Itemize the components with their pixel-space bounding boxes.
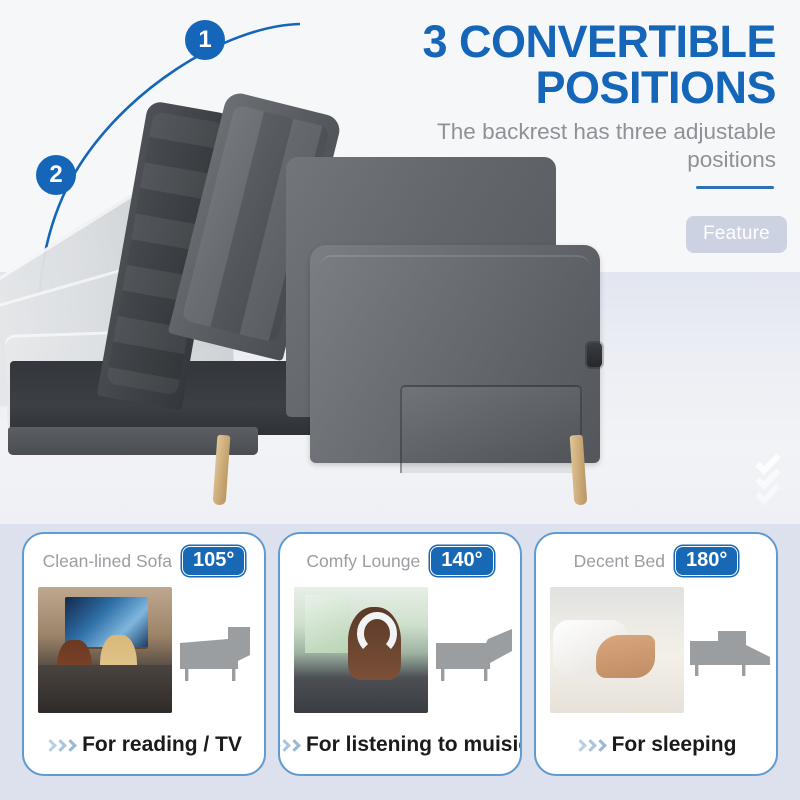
card-footer: For reading / TV bbox=[24, 728, 264, 762]
card-body bbox=[550, 586, 766, 714]
angle-badge: 180° bbox=[675, 546, 738, 576]
photo-figure-right bbox=[100, 635, 138, 706]
subtitle-underline-rule bbox=[696, 186, 774, 189]
card-photo bbox=[550, 587, 684, 713]
sofa-side-pocket bbox=[400, 385, 582, 473]
sofa-upright-icon bbox=[172, 617, 258, 683]
chevron-right-icon bbox=[576, 741, 605, 750]
scroll-down-chevrons-icon bbox=[756, 456, 790, 516]
sofa-tufting-button bbox=[587, 343, 602, 367]
position-card[interactable]: Comfy Lounge 140° For listening to muis bbox=[278, 532, 522, 776]
card-footer: For listening to muisic bbox=[280, 728, 520, 762]
chevron-right-icon bbox=[46, 741, 75, 750]
position-marker-1[interactable]: 1 bbox=[185, 20, 225, 60]
position-card[interactable]: Decent Bed 180° For sleeping bbox=[534, 532, 778, 776]
card-header: Decent Bed 180° bbox=[536, 544, 776, 578]
card-title: Comfy Lounge bbox=[306, 551, 420, 572]
promo-stage: 3 CONVERTIBLE POSITIONS The backrest has… bbox=[0, 0, 800, 800]
card-footer-label: For sleeping bbox=[612, 733, 737, 757]
card-title: Decent Bed bbox=[574, 551, 665, 572]
position-cards-row: Clean-lined Sofa 105° For re bbox=[22, 532, 778, 776]
feature-badge: Feature bbox=[686, 216, 787, 253]
card-header: Comfy Lounge 140° bbox=[280, 544, 520, 578]
card-title: Clean-lined Sofa bbox=[43, 551, 172, 572]
card-body bbox=[38, 586, 254, 714]
sofa-reclined-icon bbox=[428, 617, 520, 683]
photo-figure-left bbox=[57, 640, 92, 706]
angle-badge: 140° bbox=[430, 546, 493, 576]
card-footer-label: For reading / TV bbox=[82, 733, 242, 757]
position-marker-1-label: 1 bbox=[198, 28, 211, 52]
headline-line-1: 3 CONVERTIBLE bbox=[356, 20, 776, 64]
card-footer: For sleeping bbox=[536, 728, 776, 762]
card-photo bbox=[38, 587, 172, 713]
card-header: Clean-lined Sofa 105° bbox=[24, 544, 264, 578]
chevron-right-icon bbox=[278, 741, 299, 750]
card-footer-label: For listening to muisic bbox=[306, 733, 522, 757]
card-photo bbox=[294, 587, 428, 713]
headphones-icon bbox=[357, 612, 397, 655]
sofa-flat-bed-icon bbox=[684, 619, 778, 681]
angle-badge: 105° bbox=[182, 546, 245, 576]
sofa-product-image bbox=[0, 95, 660, 525]
card-body bbox=[294, 586, 510, 714]
position-card[interactable]: Clean-lined Sofa 105° For re bbox=[22, 532, 266, 776]
